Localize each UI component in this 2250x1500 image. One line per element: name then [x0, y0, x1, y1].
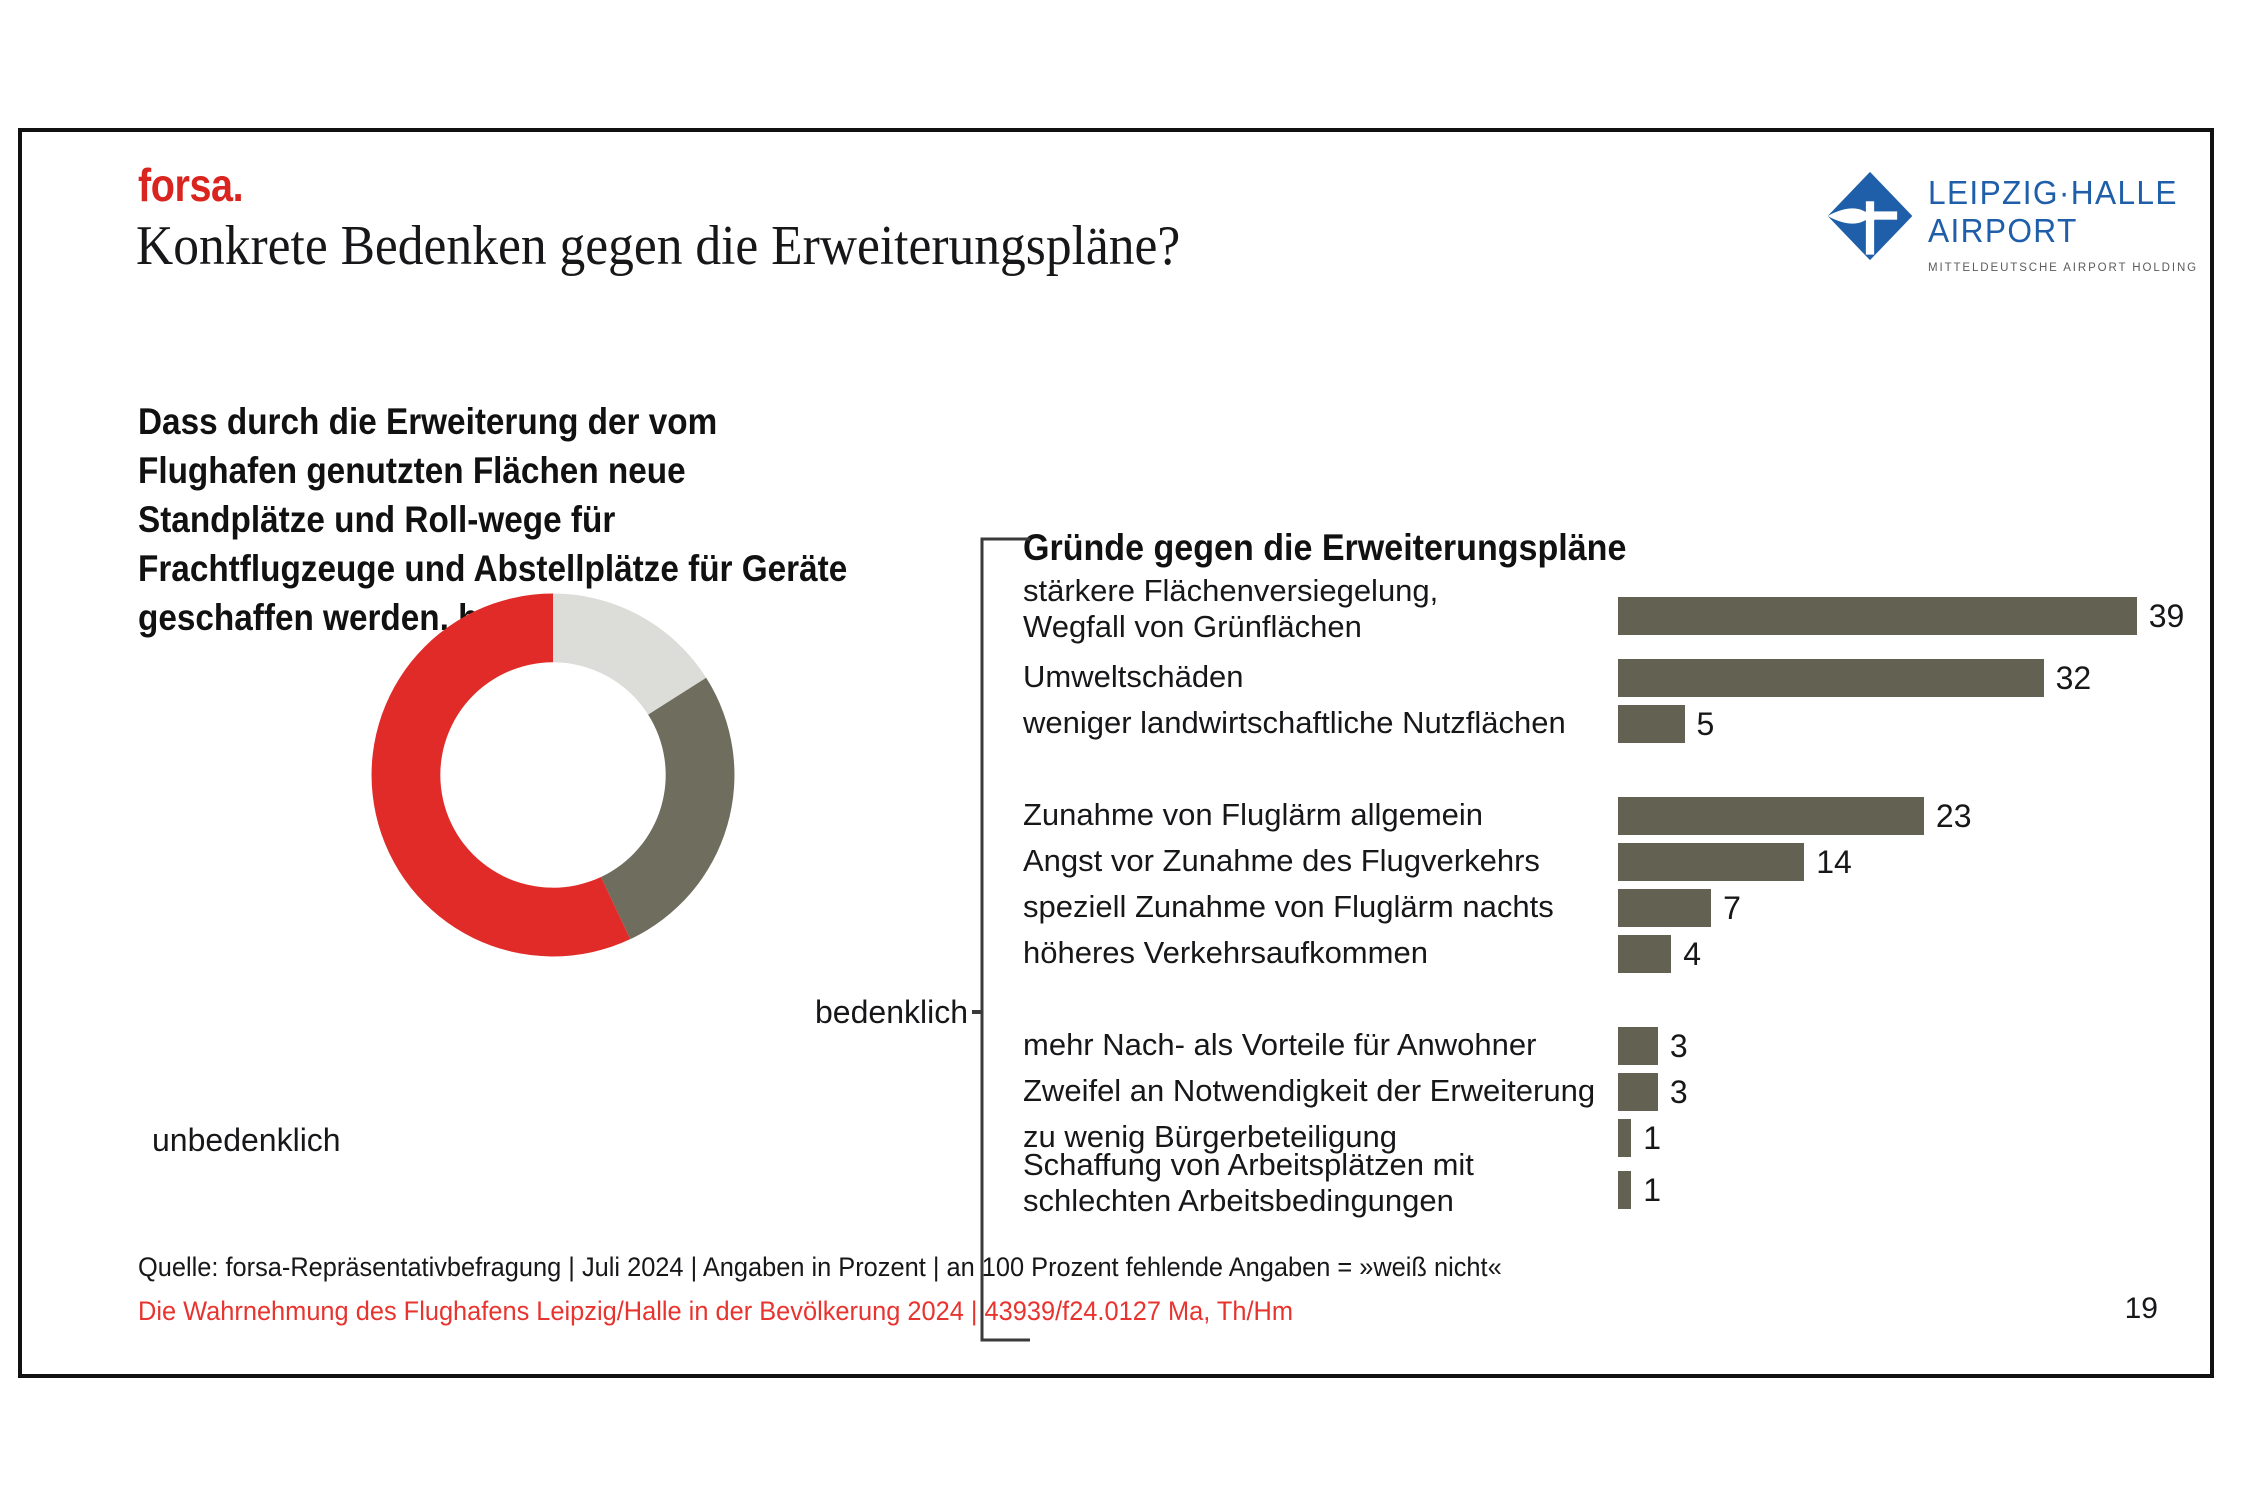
- bar-row: Zunahme von Fluglärm allgemein23: [1023, 793, 2203, 839]
- bar-value: 5: [1697, 705, 1715, 743]
- donut-slice-bedenklich: [601, 678, 734, 939]
- bar-row: Angst vor Zunahme des Flugverkehrs14: [1023, 839, 2203, 885]
- bar-value: 3: [1670, 1073, 1688, 1111]
- bar-value: 23: [1936, 797, 1972, 835]
- bar-value: 1: [1643, 1171, 1661, 1209]
- airport-diamond-icon: [1824, 170, 1916, 262]
- bar: [1618, 935, 1671, 973]
- donut-svg: [362, 584, 744, 966]
- slide: forsa. Konkrete Bedenken gegen die Erwei…: [18, 128, 2214, 1378]
- logo-subline: MITTELDEUTSCHE AIRPORT HOLDING: [1928, 262, 2198, 274]
- bar-row: stärkere Flächenversiegelung,Wegfall von…: [1023, 587, 2203, 633]
- donut-chart: [126, 584, 956, 1054]
- bar-label: Zweifel an Notwendigkeit der Erweiterung: [1023, 1073, 1606, 1109]
- bar-row: Zweifel an Notwendigkeit der Erweiterung…: [1023, 1069, 2203, 1115]
- bar-value: 1: [1643, 1119, 1661, 1157]
- bar: [1618, 659, 2044, 697]
- bar: [1618, 1119, 1631, 1157]
- bar-row: speziell Zunahme von Fluglärm nachts7: [1023, 885, 2203, 931]
- bar-row: Schaffung von Arbeitsplätzen mitschlecht…: [1023, 1161, 2203, 1207]
- forsa-logo-text: forsa.: [138, 158, 243, 212]
- donut-label-bedenklich: bedenklich: [815, 994, 968, 1031]
- bar-label: Umweltschäden: [1023, 659, 1606, 695]
- donut-value-unbedenklich: 57: [352, 1098, 389, 1136]
- bar: [1618, 843, 1804, 881]
- bar-label: Schaffung von Arbeitsplätzen mitschlecht…: [1023, 1147, 1606, 1219]
- bar-chart-heading: Gründe gegen die Erweiterungspläne: [1023, 527, 1626, 569]
- bar-label: weniger landwirtschaftliche Nutzflächen: [1023, 705, 1606, 741]
- logo-wordmark: LEIPZIG·HALLE AIRPORT: [1928, 174, 2188, 250]
- donut-label-unbedenklich: unbedenklich: [152, 1122, 341, 1159]
- bar-chart: stärkere Flächenversiegelung,Wegfall von…: [1023, 587, 2203, 1347]
- logo-line-2: AIRPORT: [1928, 212, 2178, 250]
- bar: [1618, 1073, 1658, 1111]
- bar-row: mehr Nach- als Vorteile für Anwohner3: [1023, 1023, 2203, 1069]
- bar-value: 32: [2056, 659, 2092, 697]
- page-number: 19: [2125, 1292, 2158, 1326]
- bar-label: höheres Verkehrsaufkommen: [1023, 935, 1606, 971]
- source-note: Quelle: forsa-Repräsentativbefragung | J…: [138, 1252, 1502, 1283]
- bar-label: mehr Nach- als Vorteile für Anwohner: [1023, 1027, 1606, 1063]
- bar-value: 7: [1723, 889, 1741, 927]
- study-note: Die Wahrnehmung des Flughafens Leipzig/H…: [138, 1296, 1293, 1327]
- bar-row: Umweltschäden32: [1023, 655, 2203, 701]
- page-title: Konkrete Bedenken gegen die Erweiterungs…: [136, 214, 1180, 278]
- bar-value: 3: [1670, 1027, 1688, 1065]
- bar: [1618, 597, 2137, 635]
- bar: [1618, 1027, 1658, 1065]
- bar-value: 39: [2149, 597, 2185, 635]
- bar-row: höheres Verkehrsaufkommen4: [1023, 931, 2203, 977]
- bar-label: speziell Zunahme von Fluglärm nachts: [1023, 889, 1606, 925]
- bar-value: 14: [1816, 843, 1852, 881]
- bar-label: stärkere Flächenversiegelung,Wegfall von…: [1023, 573, 1606, 645]
- bar: [1618, 705, 1685, 743]
- bar: [1618, 1171, 1631, 1209]
- bar-label: Zunahme von Fluglärm allgemein: [1023, 797, 1606, 833]
- bar-label: Angst vor Zunahme des Flugverkehrs: [1023, 843, 1606, 879]
- donut-value-bedenklich: 27: [744, 994, 781, 1032]
- bar-row: weniger landwirtschaftliche Nutzflächen5: [1023, 701, 2203, 747]
- logo-line-1: LEIPZIG·HALLE: [1928, 174, 2178, 212]
- bar-value: 4: [1683, 935, 1701, 973]
- bar: [1618, 797, 1924, 835]
- leipzig-halle-airport-logo: LEIPZIG·HALLE AIRPORT MITTELDEUTSCHE AIR…: [1824, 170, 2174, 282]
- bar: [1618, 889, 1711, 927]
